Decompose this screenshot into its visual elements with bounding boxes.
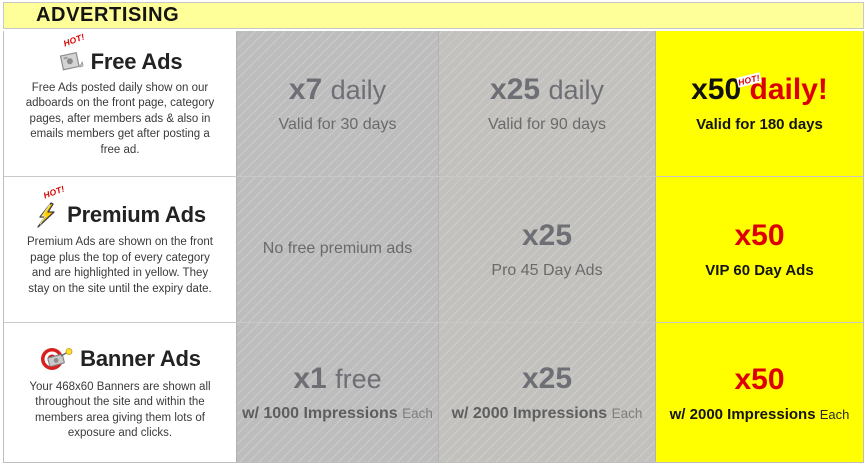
free-ads-pro-unit: daily — [548, 75, 604, 105]
cell-pro-tier-premium-ads: x25 Pro 45 Day Ads — [439, 177, 656, 323]
premium-ads-vip-sub: VIP 60 Day Ads — [705, 262, 813, 279]
banner-ads-free-value: x1 free — [293, 362, 381, 396]
banner-ads-pro-main: x25 — [522, 362, 572, 395]
banner-ads-free-unit: free — [335, 364, 382, 394]
free-ads-free-main: x7 — [289, 73, 322, 106]
premium-ads-heading: HOT! Premium Ads — [4, 201, 236, 229]
banner-ads-pro-sub-light: Each — [612, 406, 643, 421]
banner-ads-vip-sub-light: Each — [820, 407, 850, 422]
banner-ads-free-sub-main: w/ 1000 Impressions — [242, 405, 398, 422]
banner-ads-vip-sub: w/ 2000 Impressions Each — [670, 406, 850, 423]
free-ads-heading: HOT! Free Ads — [4, 49, 236, 75]
premium-ads-vip-value: x50 — [734, 219, 784, 253]
banner-ads-description: Your 468x60 Banners are shown all throug… — [4, 380, 236, 442]
banner-ads-pro-sub: w/ 2000 Impressions Each — [452, 405, 643, 423]
premium-ads-title: Premium Ads — [67, 202, 206, 228]
premium-ads-vip-main: x50 — [734, 219, 784, 252]
free-ads-description: Free Ads posted daily show on our adboar… — [4, 81, 236, 159]
cell-free-tier-premium-ads: No free premium ads — [236, 177, 439, 323]
cell-free-tier-free-ads: x7 daily Valid for 30 days — [236, 31, 439, 176]
free-ads-title: Free Ads — [91, 49, 183, 75]
table-row-free-ads: HOT! Free Ads Free Ads posted daily show… — [4, 31, 863, 177]
cell-vip-tier-banner-ads: x50 w/ 2000 Impressions Each — [656, 323, 863, 462]
pricing-table: HOT! Free Ads Free Ads posted daily show… — [3, 31, 864, 463]
banner-ads-pro-sub-main: w/ 2000 Impressions — [452, 405, 608, 422]
premium-ads-free-value: No free premium ads — [263, 240, 412, 258]
banner-ads-free-sub-light: Each — [402, 406, 433, 421]
cell-vip-tier-premium-ads: x50 VIP 60 Day Ads — [656, 177, 863, 323]
free-ads-pro-sub: Valid for 90 days — [488, 116, 606, 134]
cell-description-premium-ads: HOT! Premium Ads Premium Ads are shown o… — [4, 177, 236, 323]
table-row-banner-ads: Banner Ads Your 468x60 Banners are shown… — [4, 323, 863, 462]
banner-ads-vip-value: x50 — [734, 363, 784, 397]
page-title: ADVERTISING — [36, 4, 179, 27]
hot-badge-icon: HOT! — [41, 184, 67, 202]
cell-free-tier-banner-ads: x1 free w/ 1000 Impressions Each — [236, 323, 439, 462]
banner-ads-free-sub: w/ 1000 Impressions Each — [242, 405, 433, 423]
lightning-bolt-icon — [34, 201, 60, 229]
cell-description-free-ads: HOT! Free Ads Free Ads posted daily show… — [4, 31, 236, 176]
cell-pro-tier-free-ads: x25 daily Valid for 90 days — [439, 31, 656, 176]
page-header: ADVERTISING — [3, 2, 864, 29]
banner-ads-free-main: x1 — [293, 362, 326, 395]
premium-ads-pro-main: x25 — [522, 219, 572, 252]
banner-ads-pro-value: x25 — [522, 362, 572, 396]
banner-ads-vip-main: x50 — [734, 363, 784, 396]
cell-pro-tier-banner-ads: x25 w/ 2000 Impressions Each — [439, 323, 656, 462]
hot-badge-icon: HOT! — [61, 31, 87, 48]
free-ads-vip-value: HOT! x50 daily! — [691, 73, 828, 107]
premium-ads-pro-sub: Pro 45 Day Ads — [491, 262, 602, 280]
premium-ads-pro-value: x25 — [522, 219, 572, 253]
free-ads-pro-main: x25 — [490, 73, 540, 106]
advertising-pricing-table: ADVERTISING HOT! Free Ads — [0, 0, 867, 466]
free-ads-free-unit: daily — [331, 75, 387, 105]
free-ads-vip-sub: Valid for 180 days — [696, 116, 823, 133]
banner-ads-vip-sub-main: w/ 2000 Impressions — [670, 406, 816, 423]
table-row-premium-ads: HOT! Premium Ads Premium Ads are shown o… — [4, 177, 863, 324]
note-icon — [58, 50, 84, 74]
free-ads-free-value: x7 daily — [289, 73, 386, 107]
free-ads-pro-value: x25 daily — [490, 73, 604, 107]
free-ads-vip-main: x50 — [691, 73, 741, 106]
banner-ads-heading: Banner Ads — [4, 344, 236, 374]
target-icon — [39, 344, 73, 374]
cell-description-banner-ads: Banner Ads Your 468x60 Banners are shown… — [4, 323, 236, 462]
free-ads-vip-unit: daily! — [750, 73, 828, 106]
banner-ads-title: Banner Ads — [80, 346, 201, 372]
premium-ads-description: Premium Ads are shown on the front page … — [4, 235, 236, 297]
cell-vip-tier-free-ads: HOT! x50 daily! Valid for 180 days — [656, 31, 863, 176]
free-ads-free-sub: Valid for 30 days — [279, 116, 397, 134]
